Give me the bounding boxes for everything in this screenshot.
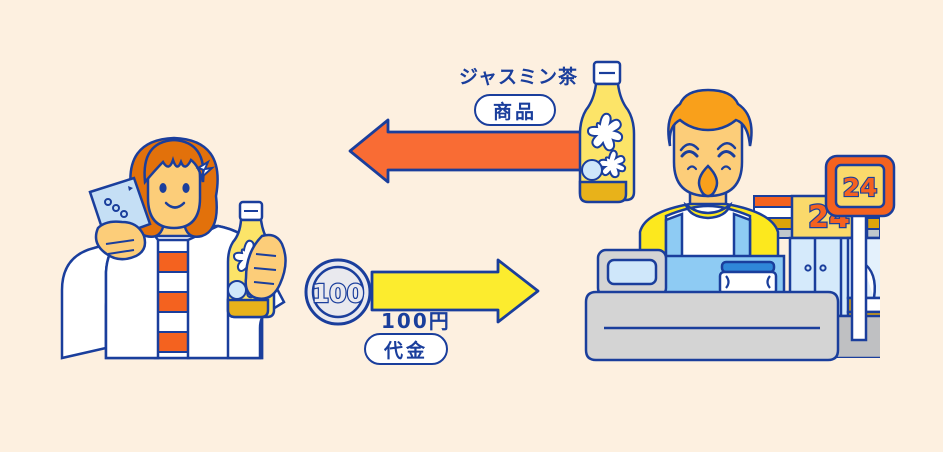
illustration-canvas: 24 24 <box>0 0 943 452</box>
bottle-base <box>580 182 626 202</box>
coin-value-text: 100 <box>312 279 364 308</box>
coin-100: 100 <box>306 260 370 324</box>
pole-sign-24: 24 <box>826 156 894 216</box>
svg-text:24: 24 <box>843 173 878 202</box>
checkout-counter <box>586 292 838 360</box>
woman-eye-right <box>182 183 189 193</box>
receipt-tray <box>720 262 776 294</box>
payment-badge: 代金 <box>364 333 448 365</box>
woman-eye-left <box>159 183 166 193</box>
product-badge: 商品 <box>474 94 556 126</box>
woman-striped-shirt <box>155 240 189 358</box>
price-label: 100円 <box>381 305 451 334</box>
jasmine-tea-label: ジャスミン茶 <box>459 62 578 89</box>
bottle-dot <box>582 160 602 180</box>
